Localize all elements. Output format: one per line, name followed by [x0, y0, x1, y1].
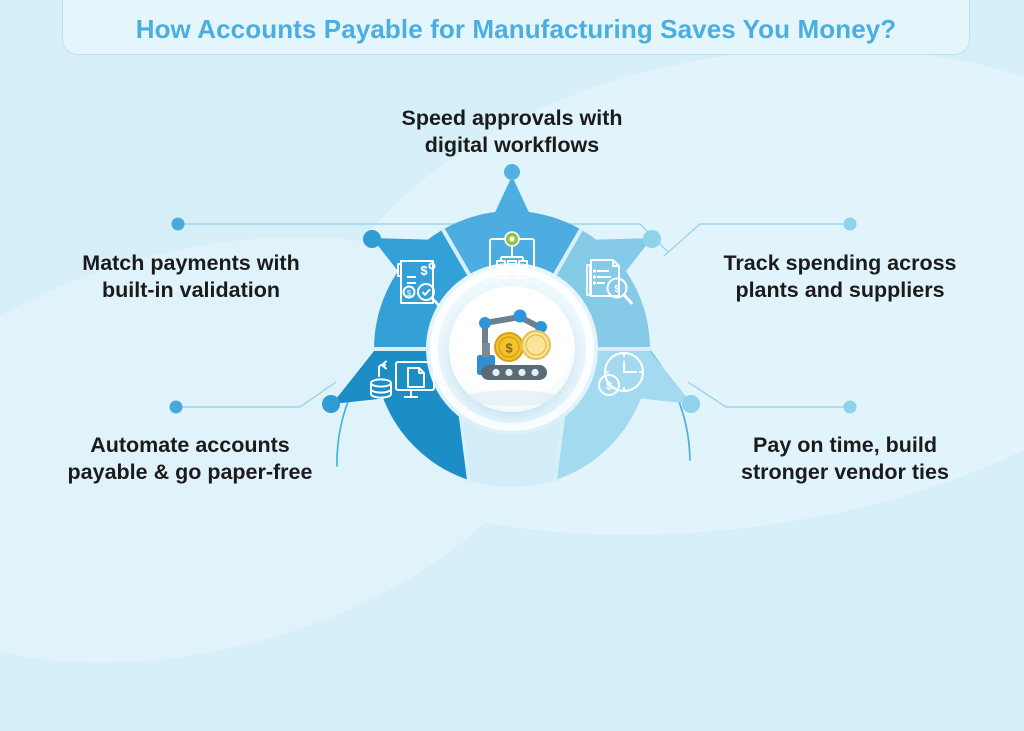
endpoint-right-bottom: [844, 401, 857, 414]
svg-text:$: $: [614, 284, 620, 295]
svg-text:$: $: [606, 381, 612, 393]
svg-text:$: $: [407, 289, 412, 298]
node-top: [504, 164, 520, 180]
endpoint-left-bottom: [170, 401, 183, 414]
label-automate-ap: Automate accounts payable & go paper-fre…: [28, 432, 352, 487]
center-disc-shadow: [464, 390, 560, 406]
label-speed-approvals: Speed approvals with digital workflows: [336, 105, 688, 160]
notch-top: [484, 176, 540, 236]
svg-text:$: $: [505, 341, 513, 356]
node-left-top: [363, 230, 381, 248]
label-pay-on-time: Pay on time, build stronger vendor ties: [692, 432, 998, 487]
label-match-payments: Match payments with built-in validation: [38, 250, 344, 305]
node-right-top: [643, 230, 661, 248]
node-right-bottom: [682, 395, 700, 413]
node-left-bottom: [322, 395, 340, 413]
endpoint-left-top: [172, 218, 185, 231]
endpoint-right-top: [844, 218, 857, 231]
label-track-spending: Track spending across plants and supplie…: [684, 250, 996, 305]
svg-text:$: $: [420, 263, 428, 278]
